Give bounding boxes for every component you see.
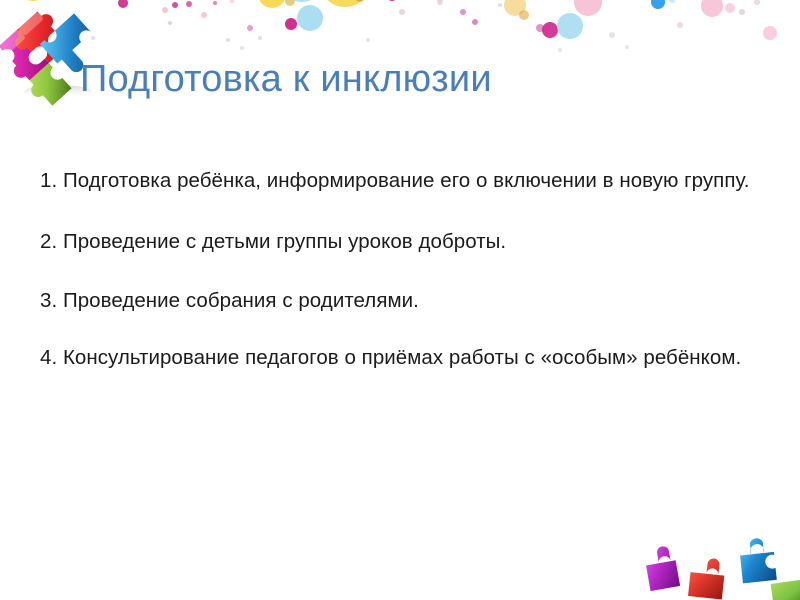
content-list: 1. Подготовка ребёнка, информирование ег… <box>40 165 756 373</box>
confetti-dot <box>460 9 466 15</box>
confetti-dot <box>386 0 398 1</box>
confetti-dot <box>16 0 50 1</box>
list-item: 3. Проведение собрания с родителями. <box>40 285 756 316</box>
confetti-dot <box>258 0 286 8</box>
confetti-dot <box>320 0 370 7</box>
confetti-dot <box>519 10 529 20</box>
confetti-dot <box>201 12 207 18</box>
confetti-dot <box>91 36 95 40</box>
confetti-dot <box>118 0 128 8</box>
confetti-dot <box>504 0 526 16</box>
confetti-dot <box>285 18 297 30</box>
page-title: Подготовка к инклюзии <box>80 55 492 103</box>
slide-canvas: Подготовка к инклюзии 1. Подготовка ребё… <box>0 0 800 600</box>
confetti-dot <box>669 0 675 3</box>
confetti-dot <box>472 19 478 25</box>
confetti-dot <box>763 26 777 40</box>
puzzle-pieces-scattered-icon <box>630 528 800 600</box>
confetti-dot <box>542 22 558 38</box>
confetti-dot <box>285 0 295 6</box>
confetti-dot <box>168 21 172 25</box>
confetti-dot <box>739 9 745 15</box>
confetti-dot <box>754 0 760 5</box>
confetti-dot <box>366 38 370 42</box>
confetti-dot <box>609 32 615 38</box>
confetti-dot <box>558 48 562 52</box>
confetti-dot <box>498 3 502 7</box>
confetti-dot <box>247 25 253 31</box>
list-item: 2. Проведение с детьми группы уроков доб… <box>40 226 756 257</box>
list-item: 1. Подготовка ребёнка, информирование ег… <box>40 165 756 196</box>
confetti-dot <box>230 0 234 3</box>
confetti-dot <box>557 13 583 39</box>
confetti-dot <box>437 0 443 5</box>
confetti-dot <box>399 9 405 15</box>
confetti-dot <box>701 0 723 17</box>
confetti-dot <box>213 1 217 5</box>
confetti-dot <box>536 24 544 32</box>
confetti-dot <box>186 1 192 7</box>
list-item: 4. Консультирование педагогов о приёмах … <box>40 342 756 373</box>
confetti-dot <box>162 7 168 13</box>
confetti-dot <box>651 0 665 9</box>
confetti-dot <box>725 3 735 13</box>
confetti-dot <box>172 2 178 8</box>
confetti-dot <box>625 45 629 49</box>
confetti-dot <box>677 22 683 28</box>
confetti-dot <box>258 36 262 40</box>
confetti-dot <box>240 46 244 50</box>
confetti-dot <box>297 5 323 31</box>
confetti-dot <box>574 0 602 16</box>
confetti-dot <box>282 0 322 2</box>
confetti-dot <box>355 0 365 2</box>
confetti-dot <box>226 38 230 42</box>
